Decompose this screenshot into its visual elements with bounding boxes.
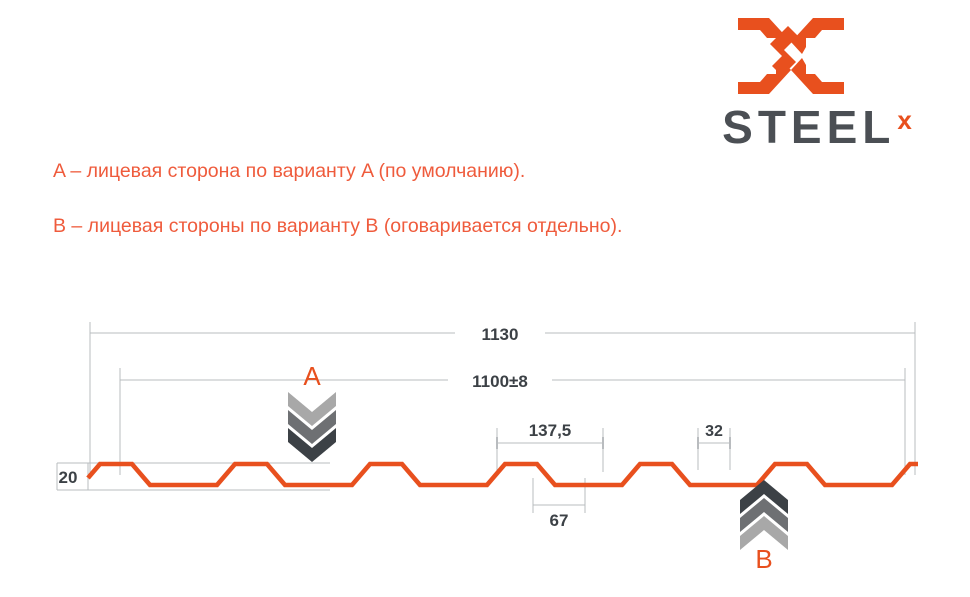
legend-line-b: B – лицевая стороны по варианту B (огова… [53, 215, 622, 238]
steelx-logo: STEEL x [688, 16, 946, 156]
legend-a-text: A – лицевая сторона по варианту A (по ум… [53, 160, 525, 182]
dim-label-1130: 1130 [482, 325, 519, 344]
marker-a-chevrons [288, 392, 336, 462]
dim-label-1100: 1100±8 [472, 372, 528, 391]
marker-b-chevrons [740, 480, 788, 550]
marker-b-letter: B [755, 544, 772, 574]
dim-label-137-5: 137,5 [529, 421, 572, 440]
logo-superscript-x: x [897, 107, 911, 133]
logo-steel-text: STEEL [722, 104, 895, 150]
profile-technical-drawing: 1130 1100±8 137,5 32 67 20 A B [0, 300, 970, 597]
sheet-profile-line [88, 464, 918, 485]
x-logo-mark-icon [736, 16, 846, 96]
dim-label-20: 20 [59, 468, 78, 487]
dim-label-32: 32 [705, 423, 723, 440]
dim-label-67: 67 [550, 511, 569, 530]
marker-b: B [740, 480, 788, 574]
legend-b-text: B – лицевая стороны по варианту B (огова… [53, 215, 622, 237]
marker-a-letter: A [303, 361, 321, 391]
page-root: STEEL x A – лицевая сторона по варианту … [0, 0, 970, 597]
marker-a: A [288, 361, 336, 462]
logo-wordmark: STEEL x [688, 104, 946, 150]
legend-line-a: A – лицевая сторона по варианту A (по ум… [53, 160, 525, 183]
